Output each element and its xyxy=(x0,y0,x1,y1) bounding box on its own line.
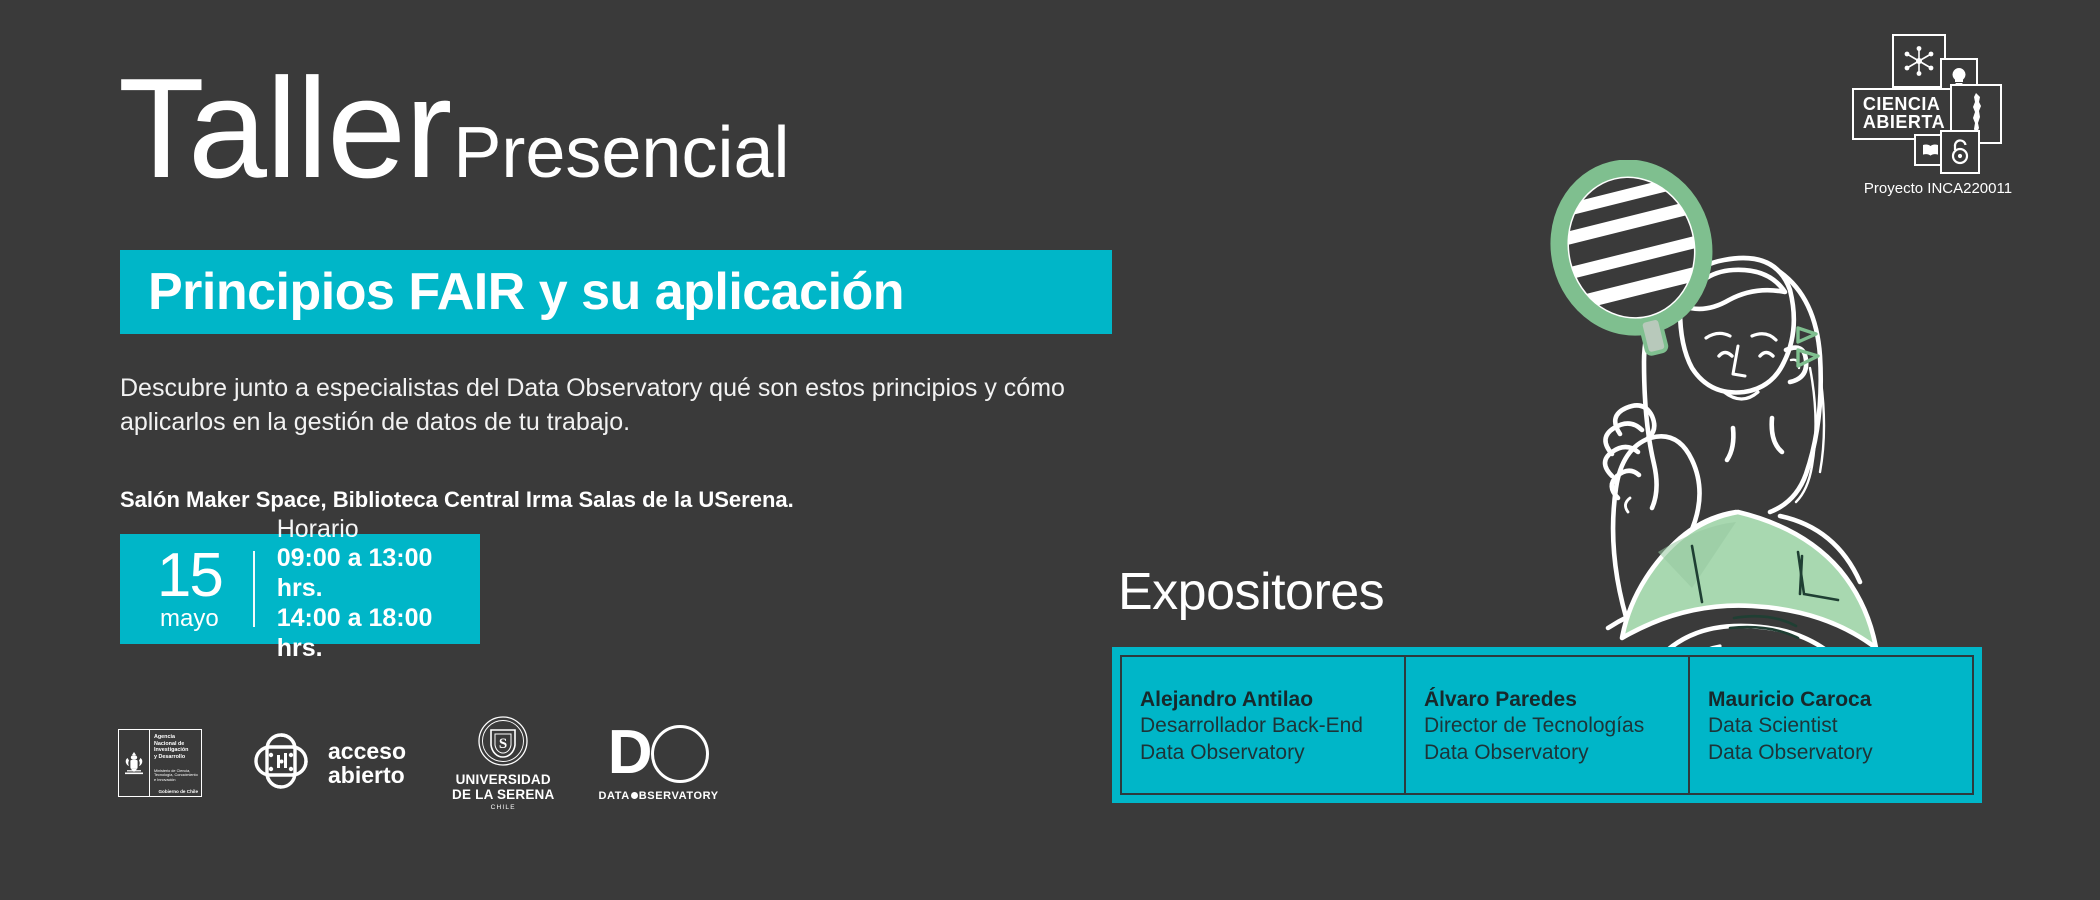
date-day: 15 xyxy=(157,547,222,604)
speaker-name: Mauricio Caroca xyxy=(1708,687,1972,713)
venue-text: Salón Maker Space, Biblioteca Central Ir… xyxy=(120,487,1130,513)
date-schedule-box: 15 mayo Horario 09:00 a 13:00 hrs. 14:00… xyxy=(120,534,480,644)
woman-with-magnifier-illustration xyxy=(1480,160,1920,680)
poster-canvas: Taller Presencial Principios FAIR y su a… xyxy=(0,0,2100,900)
speaker-name: Álvaro Paredes xyxy=(1424,687,1688,713)
anid-line1: AgenciaNacional deInvestigacióny Desarro… xyxy=(154,734,198,760)
speakers-inner-frame: Alejandro Antilao Desarrollador Back-End… xyxy=(1120,655,1974,795)
speaker-card: Álvaro Paredes Director de Tecnologías D… xyxy=(1404,657,1688,793)
ciencia-abierta-mark: CIENCIA ABIERTA xyxy=(1852,34,2024,174)
userena-line1: UNIVERSIDAD xyxy=(456,772,551,787)
speakers-box: Alejandro Antilao Desarrollador Back-End… xyxy=(1112,647,1982,803)
page-title: Taller Presencial xyxy=(118,58,790,200)
anid-line2: Ministerio de Ciencia,Tecnología, Conoci… xyxy=(154,769,198,783)
schedule-group: Horario 09:00 a 13:00 hrs. 14:00 a 18:00… xyxy=(277,515,480,663)
logo-data-observatory: D DATABSERVATORY xyxy=(598,725,718,802)
title-main: Taller xyxy=(118,58,451,200)
speaker-org: Data Observatory xyxy=(1424,740,1688,767)
do-monogram-icon: D xyxy=(608,725,710,783)
schedule-time-1: 09:00 a 13:00 hrs. xyxy=(277,543,480,603)
speaker-name: Alejandro Antilao xyxy=(1140,687,1404,713)
acceso-wordmark: accesoabierto xyxy=(328,739,406,787)
date-month: mayo xyxy=(160,607,219,631)
date-divider xyxy=(253,551,255,627)
date-left: 15 mayo xyxy=(120,547,253,630)
speakers-section-title: Expositores xyxy=(1118,562,1384,622)
speaker-org: Data Observatory xyxy=(1708,740,1972,767)
logo-acceso-abierto: accesoabierto xyxy=(244,725,406,802)
chile-crest-icon xyxy=(119,730,149,796)
open-lock-icon xyxy=(1940,130,1980,174)
userena-line2: DE LA SERENA xyxy=(452,787,554,802)
logo-anid: AgenciaNacional deInvestigacióny Desarro… xyxy=(118,729,202,797)
do-ring-icon xyxy=(651,725,709,783)
network-icon xyxy=(1892,34,1946,88)
anid-line3: Gobierno de Chile xyxy=(154,789,198,794)
speaker-card: Mauricio Caroca Data Scientist Data Obse… xyxy=(1688,657,1972,793)
svg-text:S: S xyxy=(499,736,507,752)
do-wordmark: DATABSERVATORY xyxy=(598,790,718,802)
logo-strip: AgenciaNacional deInvestigacióny Desarro… xyxy=(118,718,719,808)
speaker-role: Desarrollador Back-End xyxy=(1140,713,1404,740)
speaker-role: Director de Tecnologías xyxy=(1424,713,1688,740)
speaker-org: Data Observatory xyxy=(1140,740,1404,767)
title-subtitle: Presencial xyxy=(453,117,789,189)
schedule-time-2: 14:00 a 18:00 hrs. xyxy=(277,603,480,663)
brand-word-line2: ABIERTA xyxy=(1863,114,1945,132)
acceso-knot-icon xyxy=(244,725,318,802)
headline-bar: Principios FAIR y su aplicación xyxy=(120,250,1112,334)
schedule-label: Horario xyxy=(277,515,480,543)
lead-paragraph: Descubre junto a especialistas del Data … xyxy=(120,372,1130,439)
speaker-card: Alejandro Antilao Desarrollador Back-End… xyxy=(1122,657,1404,793)
speaker-role: Data Scientist xyxy=(1708,713,1972,740)
userena-line3: CHILE xyxy=(491,804,516,811)
headline-text: Principios FAIR y su aplicación xyxy=(148,262,904,322)
logo-universidad-la-serena: S UNIVERSIDAD DE LA SERENA CHILE xyxy=(452,715,554,811)
userena-seal-icon: S xyxy=(477,715,529,772)
